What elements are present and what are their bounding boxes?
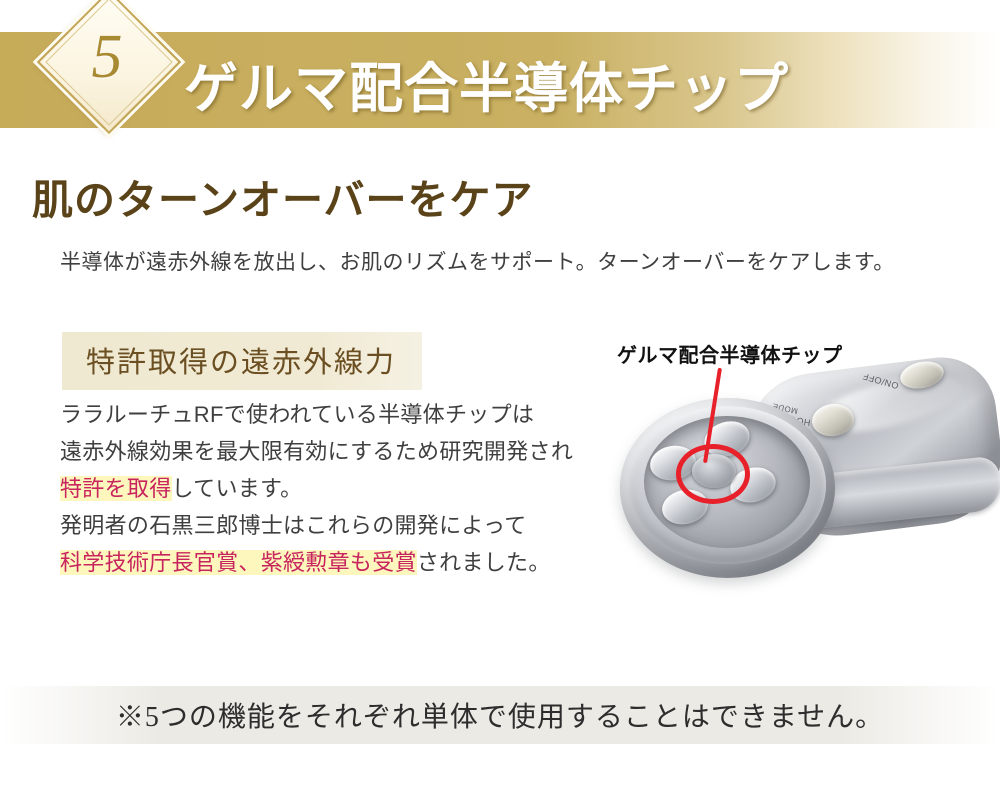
header-badge-number: 5 (58, 11, 156, 109)
body-paragraph-line: 科学技術庁長官賞、紫綬勲章も受賞されました。 (60, 544, 620, 581)
body-text: されました。 (417, 550, 551, 575)
body-text: 遠赤外線効果を最大限有効にするため研究開発され (60, 439, 573, 464)
section-lead-text: 半導体が遠赤外線を放出し、お肌のリズムをサポート。ターンオーバーをケアします。 (60, 246, 895, 276)
patent-box-label: 特許取得の遠赤外線力 (86, 347, 396, 379)
product-device-illustration: ON/OFF HOT LOW MODE (600, 358, 1000, 613)
body-paragraph-line: 遠赤外線効果を最大限有効にするため研究開発され (60, 433, 620, 470)
heading-gold-rule (8, 226, 992, 228)
patent-highlight-box: 特許取得の遠赤外線力 (62, 332, 422, 390)
product-feature-page: 5 ゲルマ配合半導体チップ 肌のターンオーバーをケア 半導体が遠赤外線を放出し、… (0, 0, 1000, 790)
body-paragraph-line: ララルーチュRFで使われている半導体チップは (60, 396, 620, 433)
body-text: ララルーチュRFで使われている半導体チップは (60, 402, 534, 427)
header-title: ゲルマ配合半導体チップ (184, 44, 789, 123)
body-paragraph-line: 発明者の石黒三郎博士はこれらの開発によって (60, 507, 620, 544)
body-text: しています。 (172, 476, 303, 501)
callout-circle-highlight-icon (676, 444, 750, 504)
body-text: 発明者の石黒三郎博士はこれらの開発によって (60, 513, 527, 538)
body-paragraph: ララルーチュRFで使われている半導体チップは遠赤外線効果を最大限有効にするため研… (60, 396, 620, 581)
section-heading: 肌のターンオーバーをケア (32, 166, 534, 226)
highlighted-text: 科学技術庁長官賞、紫綬勲章も受賞 (60, 550, 417, 575)
body-paragraph-line: 特許を取得しています。 (60, 470, 620, 507)
footer-note-text: ※5つの機能をそれぞれ単体で使用することはできません。 (0, 686, 1000, 744)
highlighted-text: 特許を取得 (60, 476, 172, 501)
